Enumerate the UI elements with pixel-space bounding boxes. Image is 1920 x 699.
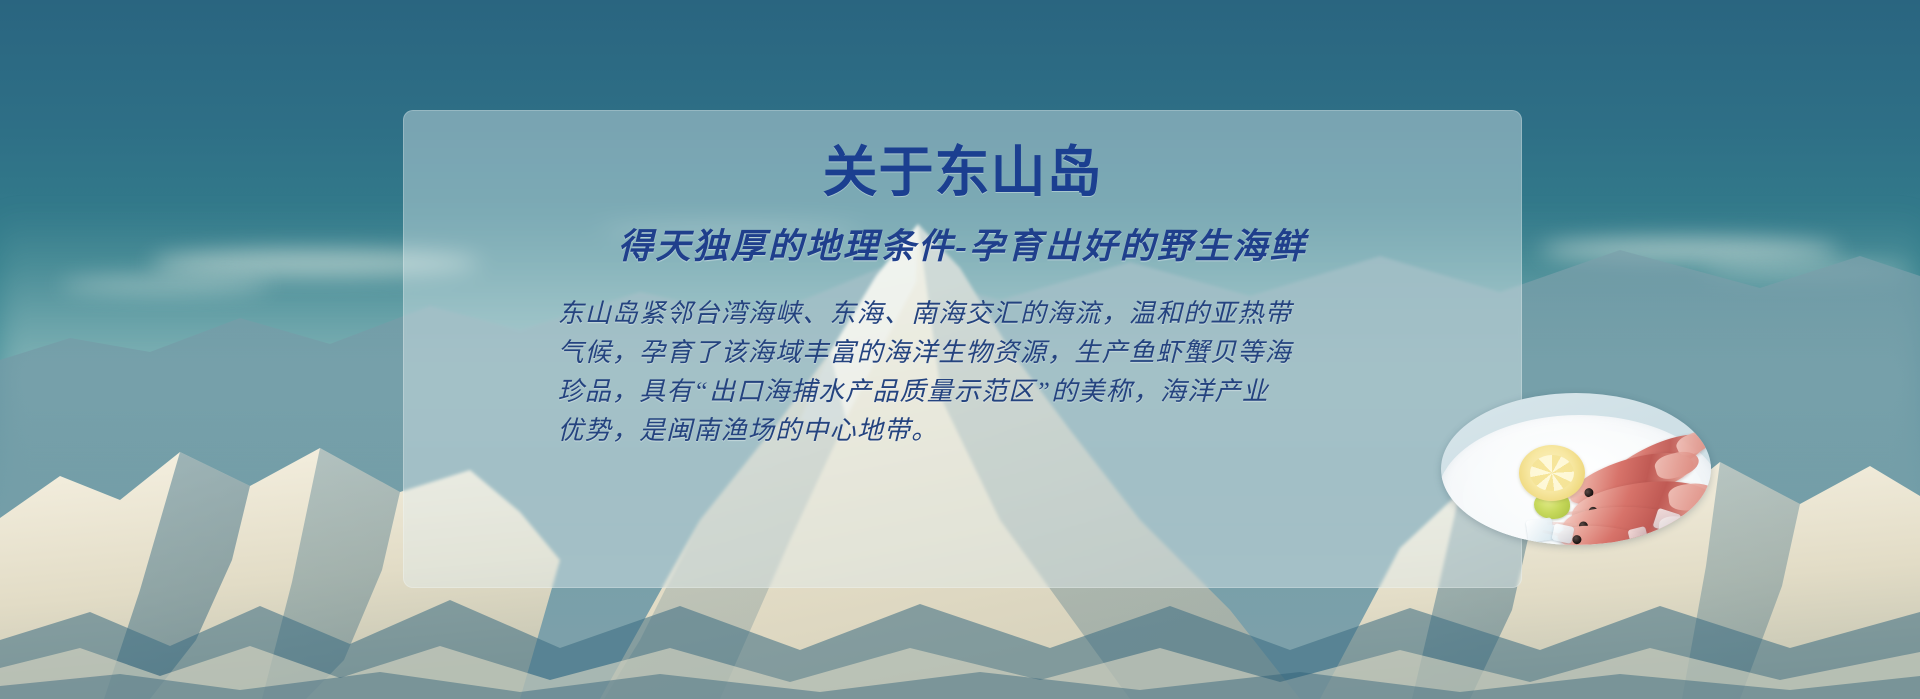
lemon-slice-icon bbox=[1519, 445, 1585, 501]
description-line: 气候，孕育了该海域丰富的海洋生物资源，生产鱼虾蟹贝等海 bbox=[558, 333, 1368, 372]
content-panel: 关于东山岛 得天独厚的地理条件-孕育出好的野生海鲜 东山岛紧邻台湾海峡、东海、南… bbox=[403, 110, 1522, 588]
page-title: 关于东山岛 bbox=[463, 142, 1462, 204]
description-line: 优势，是闽南渔场的中心地带。 bbox=[558, 411, 1368, 450]
about-dongshan-island-banner: 关于东山岛 得天独厚的地理条件-孕育出好的野生海鲜 东山岛紧邻台湾海峡、东海、南… bbox=[0, 0, 1920, 699]
description-paragraph: 东山岛紧邻台湾海峡、东海、南海交汇的海流，温和的亚热带 气候，孕育了该海域丰富的… bbox=[558, 294, 1368, 450]
description-line: 珍品，具有“出口海捕水产品质量示范区”的美称，海洋产业 bbox=[558, 372, 1368, 411]
squid-eye bbox=[1571, 534, 1582, 545]
page-subtitle: 得天独厚的地理条件-孕育出好的野生海鲜 bbox=[463, 226, 1462, 268]
description-line: 东山岛紧邻台湾海峡、东海、南海交汇的海流，温和的亚热带 bbox=[558, 294, 1368, 333]
seafood-photo bbox=[1441, 393, 1711, 545]
seafood-photo-stage bbox=[1441, 393, 1711, 545]
ice-cube-icon bbox=[1526, 517, 1555, 542]
